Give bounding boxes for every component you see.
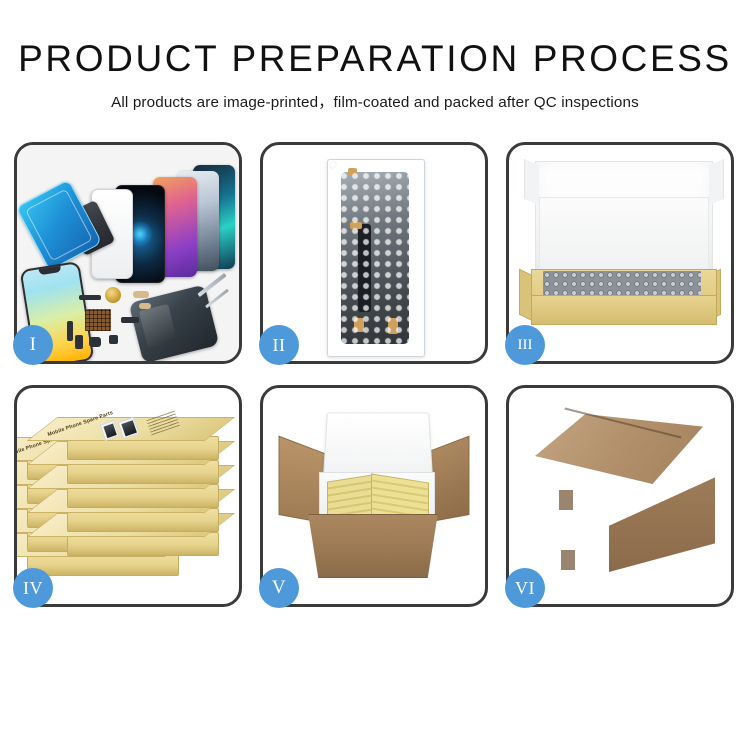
step-2-badge: II [259, 325, 299, 365]
foam-sheet-icon [539, 197, 709, 273]
sealed-carton-icon [525, 414, 715, 580]
process-step-3: III [506, 142, 734, 364]
step-4-image: Mobile Phone Spare Parts Mobile Phone Sp… [17, 388, 239, 604]
camera-module-part-icon [89, 337, 101, 347]
process-step-1: I [14, 142, 242, 364]
tape-tab-mid-icon [350, 222, 362, 229]
step-4-scene: Mobile Phone Spare Parts Mobile Phone Sp… [17, 388, 239, 604]
step-5-scene [263, 388, 485, 604]
carton-body-icon [301, 514, 445, 578]
speaker-part-icon [105, 287, 121, 303]
step-2-scene [263, 145, 485, 361]
step-6-image [509, 388, 731, 604]
step-5-badge: V [259, 568, 299, 608]
retail-box-item [67, 484, 219, 508]
logic-board-part-icon [85, 309, 111, 331]
chip-part-icon [109, 335, 118, 344]
step-1-scene [17, 145, 239, 361]
carton-top-face [535, 414, 703, 484]
foam-lid-icon [323, 412, 433, 477]
step-6-badge: VI [505, 568, 545, 608]
step-3-image [509, 145, 731, 361]
page-title: PRODUCT PREPARATION PROCESS [0, 40, 750, 79]
blue-film-screen-icon [17, 179, 102, 271]
kraft-box-front-icon [531, 295, 717, 325]
flex-cable-part-icon [133, 291, 149, 298]
step-3-scene [509, 145, 731, 361]
process-step-5: V [260, 385, 488, 607]
step-6-scene [509, 388, 731, 604]
step-3-badge: III [505, 325, 545, 365]
step-1-image [17, 145, 239, 361]
process-step-grid: I II [14, 142, 736, 607]
carton-tape-upper-icon [559, 490, 573, 510]
step-4-badge: IV [13, 568, 53, 608]
bubble-wrap-bag-icon [327, 159, 425, 357]
retail-box-stack-icon: Mobile Phone Spare Parts Mobile Phone Sp… [23, 406, 237, 592]
connector-part-icon [79, 295, 101, 300]
step-2-image [263, 145, 485, 361]
page-header: PRODUCT PREPARATION PROCESS All products… [0, 0, 750, 112]
retail-box-item [67, 532, 219, 556]
retail-box-item [67, 460, 219, 484]
tape-tab-top-icon [348, 168, 357, 176]
process-step-6: VI [506, 385, 734, 607]
retail-box-item: Mobile Phone Spare Parts [67, 436, 219, 460]
tape-tab-bottom-left-icon [354, 318, 364, 332]
page-subtitle: All products are image-printed，film-coat… [0, 90, 750, 112]
process-step-4: Mobile Phone Spare Parts Mobile Phone Sp… [14, 385, 242, 607]
step-5-image [263, 388, 485, 604]
ribbon-part-icon [67, 321, 73, 341]
antenna-part-icon [121, 317, 139, 323]
wrapped-part-icon [341, 172, 409, 344]
step-1-badge: I [13, 325, 53, 365]
retail-box-item [67, 508, 219, 532]
carton-tape-lower-icon [561, 550, 575, 570]
process-step-2: II [260, 142, 488, 364]
wrapped-flex-cable-icon [358, 224, 371, 312]
button-part-icon [75, 335, 83, 349]
tape-tab-bottom-right-icon [388, 318, 398, 334]
pry-tool-icon [205, 289, 229, 309]
flex-cable-small-part-icon [139, 303, 151, 309]
